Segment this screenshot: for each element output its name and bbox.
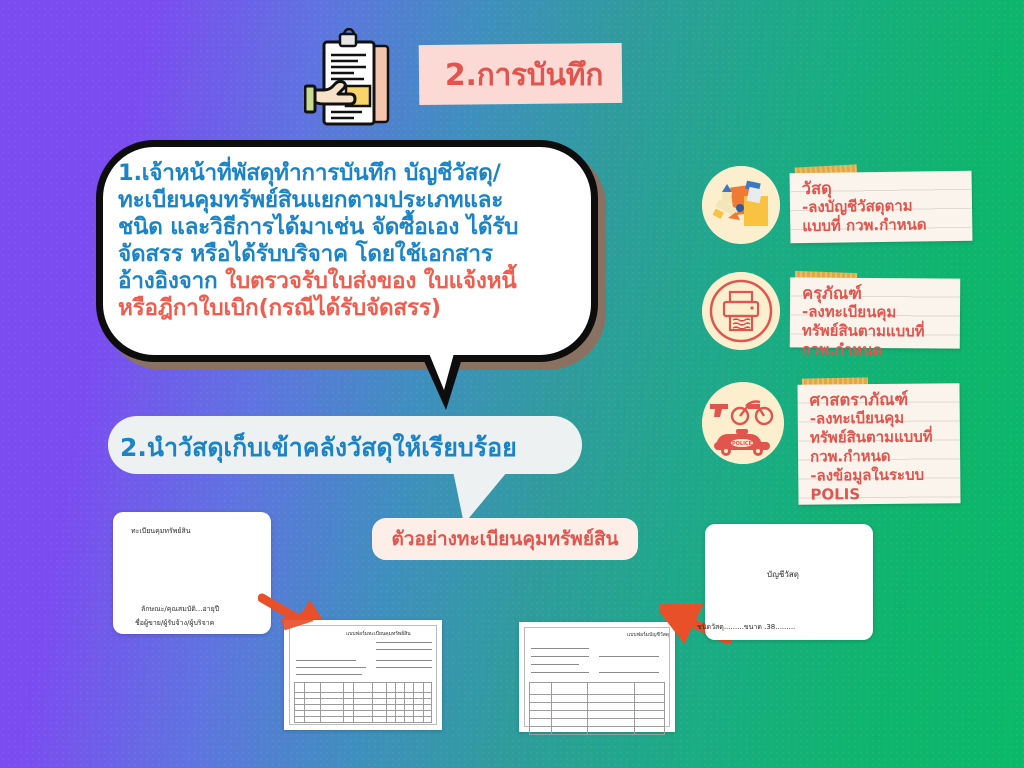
- table-row: [530, 711, 665, 719]
- main-line-7-highlight: หรือฎีกาใบเบิก(กรณีได้รับจัดสรร): [118, 295, 441, 321]
- note-body-3-line-1: -ลงทะเบียนคุม: [810, 408, 950, 428]
- note-body-3-line-5: POLIS: [810, 484, 950, 504]
- form-right-rule-5: [599, 656, 659, 657]
- table-row: [530, 683, 665, 695]
- note-card-armaments: ศาสตราภัณฑ์ -ลงทะเบียนคุม ทรัพย์สินตามแบ…: [797, 383, 960, 504]
- note-body-2-line-1: -ลงทะเบียนคุม: [802, 302, 950, 322]
- second-bubble-text: 2.นำวัสดุเก็บเข้าคลังวัสดุให้เรียบร้อย: [120, 428, 572, 468]
- doc1-title: ทะเบียนคุมทรัพย์สิน: [131, 526, 191, 537]
- second-bubble-tail: [452, 466, 512, 524]
- note-text-3: ศาสตราภัณฑ์ -ลงทะเบียนคุม ทรัพย์สินตามแบ…: [797, 383, 960, 504]
- note-body-3-line-4: -ลงข้อมูลในระบบ: [810, 465, 950, 485]
- note-heading-3: ศาสตราภัณฑ์: [810, 389, 950, 409]
- note-text-1: วัสดุ -ลงบัญชีวัสดุตาม แบบที่ กวพ.กำหนด: [790, 171, 973, 237]
- table-row: [295, 683, 432, 693]
- note-heading-1: วัสดุ: [802, 177, 962, 198]
- note-body-2-line-3: กวพ.กำหนด: [802, 340, 950, 360]
- doc4-title: บัญชีวัสดุ: [767, 568, 799, 581]
- table-row: [530, 719, 665, 727]
- clipboard-hand-icon: [304, 28, 414, 138]
- form-left-rule-1: [376, 642, 432, 643]
- form-right-rule-3: [531, 664, 579, 665]
- main-line-5: อ้างอิงจาก: [118, 268, 225, 294]
- note-card-materials: วัสดุ -ลงบัญชีวัสดุตาม แบบที่ กวพ.กำหนด: [790, 171, 973, 244]
- doc4-field-1: ชนิดวัสดุ.........ขนาด .38.........: [697, 622, 795, 633]
- form-right-rule-4: [531, 672, 589, 673]
- weapons-vehicles-icon: POLICE: [702, 382, 784, 464]
- main-line-6-highlight: ใบตรวจรับใบส่งของ ใบแจ้งหนี้: [225, 268, 516, 294]
- table-row: [295, 717, 432, 723]
- note-text-2: ครุภัณฑ์ -ลงทะเบียนคุม ทรัพย์สินตามแบบที…: [790, 277, 961, 360]
- table-row: [530, 727, 665, 735]
- form-left-rule-6: [376, 660, 432, 661]
- main-line-2: ทะเบียนคุมทรัพย์สินแยกตามประเภทและ: [118, 187, 503, 213]
- main-bubble-text: 1.เจ้าหน้าที่พัสดุทำการบันทึก บัญชีวัสดุ…: [118, 160, 580, 322]
- note-body-3-line-2: ทรัพย์สินตามแบบที่: [810, 427, 950, 447]
- main-line-4: จัดสรร หรือได้รับบริจาค โดยใช้เอกสาร: [118, 241, 493, 267]
- note-body-1-line-2: แบบที่ กวพ.กำหนด: [802, 215, 962, 236]
- note-body-1-line-1: -ลงบัญชีวัสดุตาม: [802, 196, 962, 217]
- table-row: [530, 695, 665, 703]
- slide-canvas: 2.การบันทึก 1.เจ้าหน้าที่พัสดุทำการบันทึ…: [0, 0, 1024, 768]
- svg-text:POLICE: POLICE: [732, 441, 753, 447]
- main-bubble-tail-fill: [426, 346, 456, 390]
- document-form-right: แบบฟอร์มบัญชีวัสดุ: [519, 622, 675, 732]
- note-body-3-line-3: กวพ.กำหนด: [810, 446, 950, 466]
- office-supplies-icon: [702, 166, 780, 244]
- doc1-field-1: ลักษณะ/คุณสมบัติ...อายุปี: [141, 604, 219, 615]
- form-right-rule-2: [531, 656, 589, 657]
- form-left-rule-2: [376, 649, 432, 650]
- page-title: 2.การบันทึก: [429, 50, 619, 100]
- note-heading-2: ครุภัณฑ์: [802, 283, 950, 303]
- printer-icon: [702, 272, 780, 350]
- form-right-table: [529, 682, 665, 735]
- form-left-rule-5: [296, 674, 362, 675]
- main-line-1: 1.เจ้าหน้าที่พัสดุทำการบันทึก บัญชีวัสดุ…: [118, 160, 501, 186]
- document-asset-register: ทะเบียนคุมทรัพย์สิน ลักษณะ/คุณสมบัติ...อ…: [113, 512, 271, 634]
- form-right-rule-1: [531, 648, 589, 649]
- table-row: [530, 703, 665, 711]
- form-left-rule-4: [296, 667, 366, 668]
- main-line-3: ชนิด และวิธีการได้มาเช่น จัดซื้อเอง ได้ร…: [118, 214, 518, 240]
- note-card-durable-goods: ครุภัณฑ์ -ลงทะเบียนคุม ทรัพย์สินตามแบบที…: [790, 277, 960, 348]
- caption-label: ตัวอย่างทะเบียนคุมทรัพย์สิน: [372, 518, 638, 560]
- form-left-rule-7: [376, 667, 432, 668]
- form-left-title: แบบฟอร์มทะเบียนคุมทรัพย์สิน: [346, 630, 411, 638]
- doc1-field-2: ชื่อผู้ขาย/ผู้รับจ้าง/ผู้บริจาค: [135, 618, 214, 629]
- form-right-rule-6: [599, 672, 659, 673]
- form-left-rule-3: [296, 660, 356, 661]
- form-left-table: [294, 682, 432, 723]
- document-form-left: แบบฟอร์มทะเบียนคุมทรัพย์สิน: [284, 620, 442, 730]
- note-body-2-line-2: ทรัพย์สินตามแบบที่: [802, 321, 950, 341]
- document-material-account: บัญชีวัสดุ ชนิดวัสดุ.........ขนาด .38...…: [705, 524, 873, 640]
